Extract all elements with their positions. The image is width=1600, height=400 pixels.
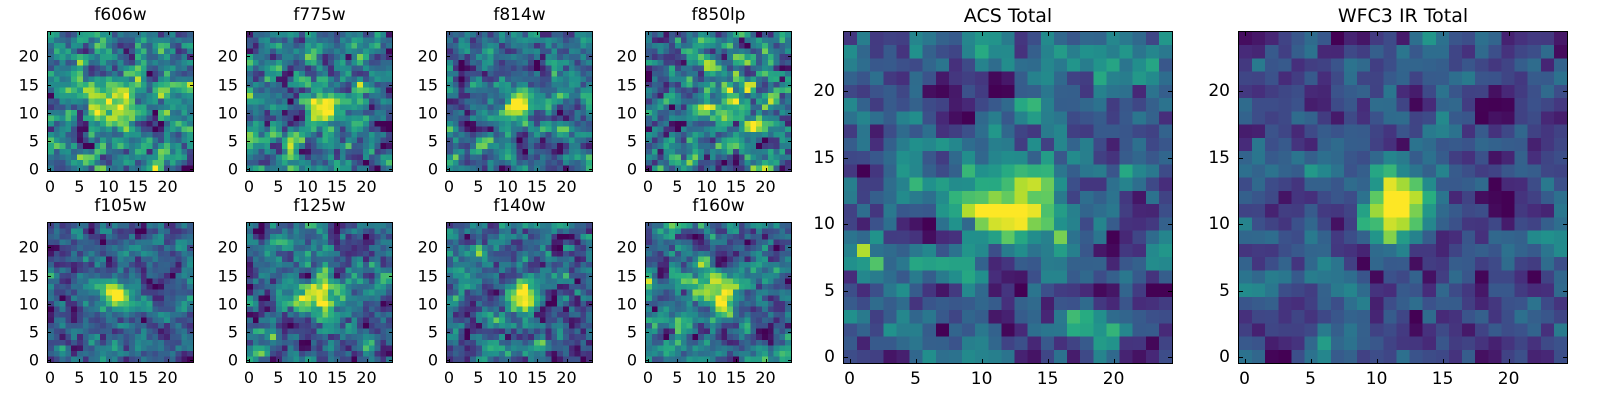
y-tick-label: 10 bbox=[186, 103, 238, 122]
x-tick bbox=[567, 359, 568, 363]
y-tick bbox=[1238, 91, 1243, 92]
x-tick bbox=[707, 359, 708, 363]
x-tick-label: 5 bbox=[74, 368, 84, 387]
x-tick bbox=[168, 359, 169, 363]
y-tick-label: 10 bbox=[783, 214, 835, 234]
x-tick-top bbox=[567, 222, 568, 226]
y-tick bbox=[47, 85, 51, 86]
y-tick bbox=[246, 169, 250, 170]
y-tick bbox=[246, 332, 250, 333]
x-tick-top bbox=[449, 222, 450, 226]
y-tick-label: 0 bbox=[783, 347, 835, 367]
x-tick-label: 10 bbox=[99, 368, 119, 387]
x-tick-label: 20 bbox=[1103, 369, 1125, 389]
x-tick-top bbox=[249, 222, 250, 226]
x-tick-top bbox=[50, 31, 51, 35]
x-tick bbox=[308, 168, 309, 172]
x-tick-top bbox=[648, 222, 649, 226]
x-tick-top bbox=[1114, 31, 1115, 36]
panel-title: f775w bbox=[246, 5, 393, 25]
x-tick-top bbox=[168, 222, 169, 226]
y-tick-label: 20 bbox=[585, 238, 637, 257]
y-tick bbox=[47, 113, 51, 114]
x-tick bbox=[1509, 359, 1510, 364]
x-tick bbox=[337, 359, 338, 363]
x-tick bbox=[308, 359, 309, 363]
x-tick bbox=[736, 168, 737, 172]
y-tick bbox=[246, 247, 250, 248]
x-tick-top bbox=[850, 31, 851, 36]
heatmap-axes bbox=[446, 222, 593, 363]
x-tick-top bbox=[537, 222, 538, 226]
y-tick bbox=[645, 247, 649, 248]
y-tick-right bbox=[1168, 158, 1173, 159]
heatmap-axes bbox=[1238, 31, 1568, 364]
x-tick-top bbox=[249, 31, 250, 35]
x-tick-label: 5 bbox=[910, 369, 921, 389]
x-tick-label: 0 bbox=[643, 368, 653, 387]
y-tick-label: 0 bbox=[386, 160, 438, 179]
x-tick bbox=[79, 359, 80, 363]
y-tick bbox=[645, 85, 649, 86]
y-tick-right bbox=[1563, 291, 1568, 292]
x-tick-top bbox=[278, 31, 279, 35]
heatmap-axes bbox=[246, 222, 393, 363]
x-tick-top bbox=[79, 31, 80, 35]
y-tick-right bbox=[1168, 357, 1173, 358]
x-tick-top bbox=[1443, 31, 1444, 36]
heatmap-image bbox=[447, 32, 592, 171]
y-tick-label: 15 bbox=[0, 75, 39, 94]
x-tick-label: 5 bbox=[473, 368, 483, 387]
x-tick-label: 0 bbox=[244, 368, 254, 387]
y-tick-right bbox=[1168, 291, 1173, 292]
y-tick-label: 10 bbox=[585, 294, 637, 313]
y-tick bbox=[47, 169, 51, 170]
x-tick-top bbox=[109, 31, 110, 35]
x-tick bbox=[278, 168, 279, 172]
x-tick bbox=[1114, 359, 1115, 364]
heatmap-axes bbox=[47, 222, 194, 363]
x-tick-top bbox=[109, 222, 110, 226]
x-tick-top bbox=[1509, 31, 1510, 36]
y-tick-label: 10 bbox=[386, 103, 438, 122]
heatmap-image bbox=[844, 32, 1172, 363]
heatmap-axes bbox=[446, 31, 593, 172]
y-tick-label: 0 bbox=[585, 160, 637, 179]
heatmap-image bbox=[447, 223, 592, 362]
x-tick-label: 0 bbox=[444, 368, 454, 387]
x-tick-top bbox=[982, 31, 983, 36]
y-tick bbox=[47, 360, 51, 361]
y-tick bbox=[645, 332, 649, 333]
heatmap-axes bbox=[246, 31, 393, 172]
y-tick bbox=[1238, 357, 1243, 358]
x-tick bbox=[367, 359, 368, 363]
y-tick-label: 0 bbox=[186, 160, 238, 179]
x-tick-label: 15 bbox=[1037, 369, 1059, 389]
y-tick bbox=[446, 56, 450, 57]
x-tick bbox=[766, 168, 767, 172]
y-tick-label: 15 bbox=[585, 75, 637, 94]
y-tick bbox=[446, 304, 450, 305]
panel-title: f850lp bbox=[645, 5, 792, 25]
y-tick bbox=[246, 113, 250, 114]
x-tick bbox=[337, 168, 338, 172]
x-tick bbox=[367, 168, 368, 172]
y-tick bbox=[246, 304, 250, 305]
x-tick-top bbox=[736, 31, 737, 35]
panel-wfc3-ir-total: WFC3 IR Total0510152005101520 bbox=[1178, 3, 1600, 398]
x-tick-top bbox=[567, 31, 568, 35]
heatmap-axes bbox=[645, 31, 792, 172]
x-tick bbox=[850, 359, 851, 364]
heatmap-image bbox=[48, 32, 193, 171]
y-tick-label: 10 bbox=[386, 294, 438, 313]
y-tick bbox=[645, 304, 649, 305]
x-tick-label: 15 bbox=[1432, 369, 1454, 389]
y-tick bbox=[1238, 158, 1243, 159]
x-tick-label: 10 bbox=[697, 368, 717, 387]
y-tick bbox=[246, 276, 250, 277]
y-tick-label: 5 bbox=[1178, 281, 1230, 301]
x-tick-top bbox=[916, 31, 917, 36]
x-tick-top bbox=[449, 31, 450, 35]
y-tick bbox=[645, 276, 649, 277]
y-tick bbox=[843, 91, 848, 92]
y-tick-right bbox=[1563, 224, 1568, 225]
x-tick bbox=[478, 359, 479, 363]
x-tick bbox=[916, 359, 917, 364]
panel-title: f814w bbox=[446, 5, 593, 25]
panel-title: f105w bbox=[47, 196, 194, 216]
y-tick-label: 20 bbox=[186, 238, 238, 257]
y-tick-label: 0 bbox=[186, 351, 238, 370]
y-tick bbox=[47, 304, 51, 305]
panel-title: f160w bbox=[645, 196, 792, 216]
x-tick-top bbox=[736, 222, 737, 226]
heatmap-axes bbox=[843, 31, 1173, 364]
x-tick-top bbox=[707, 31, 708, 35]
x-tick-top bbox=[367, 31, 368, 35]
panel-title: f125w bbox=[246, 196, 393, 216]
y-tick bbox=[47, 56, 51, 57]
y-tick-label: 0 bbox=[0, 351, 39, 370]
heatmap-image bbox=[646, 223, 791, 362]
x-tick-top bbox=[478, 222, 479, 226]
y-tick bbox=[446, 360, 450, 361]
x-tick-label: 5 bbox=[1305, 369, 1316, 389]
x-tick bbox=[982, 359, 983, 364]
x-tick bbox=[537, 359, 538, 363]
x-tick-label: 15 bbox=[327, 368, 347, 387]
x-tick-top bbox=[508, 31, 509, 35]
panel-title: f606w bbox=[47, 5, 194, 25]
y-tick bbox=[843, 158, 848, 159]
heatmap-image bbox=[646, 32, 791, 171]
x-tick bbox=[677, 359, 678, 363]
y-tick-label: 10 bbox=[186, 294, 238, 313]
y-tick-label: 5 bbox=[386, 131, 438, 150]
y-tick-label: 10 bbox=[585, 103, 637, 122]
y-tick-label: 20 bbox=[783, 81, 835, 101]
y-tick-label: 15 bbox=[186, 266, 238, 285]
y-tick-label: 0 bbox=[585, 351, 637, 370]
x-tick-top bbox=[138, 31, 139, 35]
x-tick-top bbox=[367, 222, 368, 226]
x-tick-top bbox=[308, 31, 309, 35]
panel-title: f140w bbox=[446, 196, 593, 216]
y-tick bbox=[645, 360, 649, 361]
x-tick bbox=[138, 168, 139, 172]
x-tick-top bbox=[677, 222, 678, 226]
y-tick bbox=[47, 247, 51, 248]
panel-acs-total: ACS Total0510152005101520 bbox=[783, 3, 1233, 398]
panel-title: ACS Total bbox=[843, 5, 1173, 27]
y-tick-label: 5 bbox=[0, 131, 39, 150]
x-tick bbox=[1048, 359, 1049, 364]
x-tick bbox=[79, 168, 80, 172]
heatmap-axes bbox=[47, 31, 194, 172]
y-tick-label: 10 bbox=[0, 103, 39, 122]
x-tick-top bbox=[1377, 31, 1378, 36]
y-tick bbox=[446, 85, 450, 86]
x-tick-label: 15 bbox=[128, 368, 148, 387]
y-tick-right bbox=[1563, 158, 1568, 159]
figure-canvas: f606w0510152005101520f775w05101520051015… bbox=[0, 0, 1600, 400]
y-tick-right bbox=[1563, 91, 1568, 92]
y-tick-label: 20 bbox=[0, 238, 39, 257]
y-tick bbox=[446, 247, 450, 248]
x-tick-label: 15 bbox=[527, 368, 547, 387]
y-tick-label: 15 bbox=[186, 75, 238, 94]
y-tick bbox=[843, 224, 848, 225]
heatmap-image bbox=[247, 223, 392, 362]
x-tick-top bbox=[766, 31, 767, 35]
y-tick-label: 5 bbox=[585, 322, 637, 341]
y-tick-right bbox=[1168, 224, 1173, 225]
y-tick-right bbox=[1168, 91, 1173, 92]
x-tick-label: 15 bbox=[726, 368, 746, 387]
y-tick-label: 5 bbox=[186, 131, 238, 150]
x-tick-label: 0 bbox=[45, 368, 55, 387]
x-tick-top bbox=[1311, 31, 1312, 36]
panel-title: WFC3 IR Total bbox=[1238, 5, 1568, 27]
y-tick bbox=[47, 276, 51, 277]
y-tick-label: 15 bbox=[783, 148, 835, 168]
x-tick bbox=[1311, 359, 1312, 364]
x-tick bbox=[478, 168, 479, 172]
y-tick bbox=[843, 357, 848, 358]
y-tick bbox=[1238, 291, 1243, 292]
y-tick bbox=[246, 141, 250, 142]
y-tick bbox=[645, 56, 649, 57]
x-tick-top bbox=[50, 222, 51, 226]
x-tick-top bbox=[168, 31, 169, 35]
y-tick bbox=[645, 141, 649, 142]
y-tick bbox=[246, 85, 250, 86]
x-tick-label: 0 bbox=[844, 369, 855, 389]
y-tick-label: 20 bbox=[386, 47, 438, 66]
heatmap-image bbox=[1239, 32, 1567, 363]
x-tick bbox=[537, 168, 538, 172]
y-tick-label: 5 bbox=[585, 131, 637, 150]
y-tick-label: 0 bbox=[0, 160, 39, 179]
y-tick-label: 20 bbox=[386, 238, 438, 257]
y-tick-label: 0 bbox=[386, 351, 438, 370]
x-tick bbox=[508, 168, 509, 172]
x-tick-label: 5 bbox=[273, 368, 283, 387]
x-tick bbox=[736, 359, 737, 363]
x-tick-label: 20 bbox=[755, 368, 775, 387]
x-tick-label: 10 bbox=[498, 368, 518, 387]
y-tick-label: 20 bbox=[186, 47, 238, 66]
x-tick-top bbox=[1245, 31, 1246, 36]
x-tick-label: 20 bbox=[1498, 369, 1520, 389]
y-tick-label: 5 bbox=[783, 281, 835, 301]
heatmap-image bbox=[48, 223, 193, 362]
y-tick bbox=[446, 276, 450, 277]
y-tick-label: 0 bbox=[1178, 347, 1230, 367]
x-tick-label: 10 bbox=[1366, 369, 1388, 389]
y-tick bbox=[645, 169, 649, 170]
heatmap-axes bbox=[645, 222, 792, 363]
x-tick bbox=[109, 168, 110, 172]
x-tick bbox=[109, 359, 110, 363]
x-tick-top bbox=[79, 222, 80, 226]
y-tick bbox=[47, 332, 51, 333]
y-tick bbox=[47, 141, 51, 142]
x-tick-top bbox=[677, 31, 678, 35]
x-tick bbox=[508, 359, 509, 363]
x-tick-top bbox=[1048, 31, 1049, 36]
x-tick-top bbox=[537, 31, 538, 35]
heatmap-image bbox=[247, 32, 392, 171]
y-tick-label: 20 bbox=[0, 47, 39, 66]
x-tick-label: 20 bbox=[356, 368, 376, 387]
x-tick-top bbox=[766, 222, 767, 226]
x-tick bbox=[677, 168, 678, 172]
x-tick bbox=[1377, 359, 1378, 364]
y-tick bbox=[843, 291, 848, 292]
x-tick-label: 10 bbox=[971, 369, 993, 389]
y-tick-label: 20 bbox=[585, 47, 637, 66]
y-tick-label: 10 bbox=[1178, 214, 1230, 234]
x-tick-top bbox=[308, 222, 309, 226]
y-tick-label: 15 bbox=[386, 266, 438, 285]
y-tick-label: 5 bbox=[186, 322, 238, 341]
x-tick-label: 20 bbox=[157, 368, 177, 387]
x-tick-top bbox=[278, 222, 279, 226]
x-tick-top bbox=[648, 31, 649, 35]
y-tick bbox=[246, 360, 250, 361]
x-tick bbox=[1245, 359, 1246, 364]
y-tick bbox=[446, 332, 450, 333]
x-tick bbox=[567, 168, 568, 172]
x-tick bbox=[138, 359, 139, 363]
x-tick-label: 5 bbox=[672, 368, 682, 387]
y-tick-right bbox=[1563, 357, 1568, 358]
x-tick-label: 20 bbox=[556, 368, 576, 387]
x-tick-top bbox=[508, 222, 509, 226]
y-tick-label: 15 bbox=[386, 75, 438, 94]
y-tick-label: 5 bbox=[386, 322, 438, 341]
y-tick bbox=[446, 141, 450, 142]
x-tick-top bbox=[478, 31, 479, 35]
x-tick-top bbox=[138, 222, 139, 226]
y-tick bbox=[446, 113, 450, 114]
y-tick-label: 20 bbox=[1178, 81, 1230, 101]
y-tick bbox=[645, 113, 649, 114]
x-tick bbox=[168, 168, 169, 172]
x-tick bbox=[1443, 359, 1444, 364]
y-tick-label: 5 bbox=[0, 322, 39, 341]
y-tick bbox=[246, 56, 250, 57]
y-tick bbox=[446, 169, 450, 170]
y-tick-label: 15 bbox=[585, 266, 637, 285]
y-tick bbox=[1238, 224, 1243, 225]
x-tick-label: 10 bbox=[298, 368, 318, 387]
x-tick-top bbox=[707, 222, 708, 226]
x-tick bbox=[707, 168, 708, 172]
x-tick-top bbox=[337, 31, 338, 35]
y-tick-label: 10 bbox=[0, 294, 39, 313]
x-tick bbox=[278, 359, 279, 363]
x-tick-label: 0 bbox=[1239, 369, 1250, 389]
y-tick-label: 15 bbox=[0, 266, 39, 285]
x-tick bbox=[766, 359, 767, 363]
y-tick-label: 15 bbox=[1178, 148, 1230, 168]
x-tick-top bbox=[337, 222, 338, 226]
